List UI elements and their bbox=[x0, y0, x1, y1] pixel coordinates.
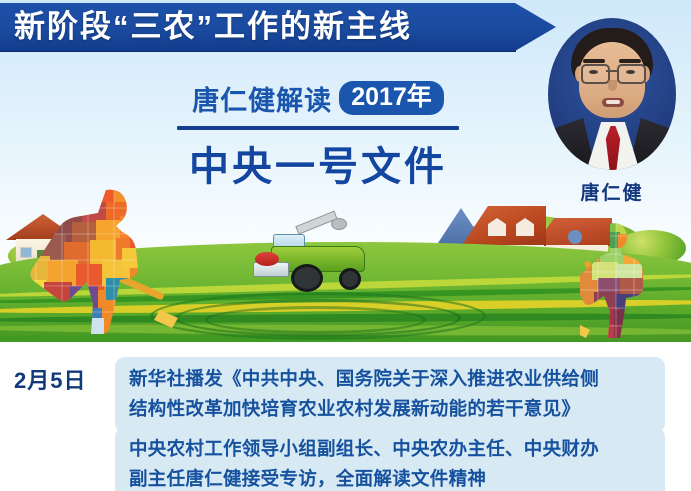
portrait-photo bbox=[548, 18, 676, 170]
headline-block: 唐仁健解读 2017年 中央一号文件 bbox=[168, 78, 468, 192]
combine-harvester-icon bbox=[253, 228, 379, 286]
auger-spout bbox=[331, 218, 347, 230]
eyebrow-shape bbox=[583, 59, 605, 63]
infographic-poster: 新阶段“三农”工作的新主线 唐仁健解读 2017年 中央一号文件 bbox=[0, 0, 691, 491]
date-label: 2月5日 bbox=[14, 363, 86, 395]
info-box-announcement: 新华社播发《中共中央、国务院关于深入推进农业供给侧 结构性改革加快培育农业农村发… bbox=[115, 357, 665, 433]
info-line: 中央农村工作领导小组副组长、中央农办主任、中央财办 bbox=[129, 434, 651, 464]
info-line: 副主任唐仁健接受专访，全面解读文件精神 bbox=[129, 464, 651, 491]
headline-divider bbox=[177, 126, 459, 130]
glasses-lens-shape bbox=[617, 64, 646, 84]
info-line: 新华社播发《中共中央、国务院关于深入推进农业供给侧 bbox=[129, 364, 651, 394]
headline-row-top: 唐仁健解读 2017年 bbox=[168, 78, 468, 118]
field-contour bbox=[205, 306, 426, 334]
mosaic-tiles bbox=[580, 218, 672, 340]
year-badge: 2017年 bbox=[339, 81, 444, 115]
farmer-with-hoe-icon bbox=[580, 218, 672, 340]
harvester-front-wheel bbox=[291, 264, 323, 292]
glasses-lens-shape bbox=[581, 64, 610, 84]
mosaic-tiles bbox=[10, 182, 190, 334]
interpreter-label: 唐仁健解读 bbox=[192, 79, 332, 118]
glasses-bridge-shape bbox=[606, 70, 617, 72]
document-title: 中央一号文件 bbox=[168, 134, 468, 192]
harvester-reel bbox=[255, 252, 279, 266]
banner-title: 新阶段“三农”工作的新主线 bbox=[14, 5, 514, 49]
nose-shape bbox=[608, 80, 617, 91]
farmer-with-hoe-icon bbox=[10, 182, 190, 334]
avatar bbox=[548, 18, 676, 170]
harvester-rear-wheel bbox=[339, 268, 361, 290]
portrait-caption: 唐仁健 bbox=[548, 178, 676, 205]
info-line: 结构性改革加快培育农业农村发展新动能的若干意见》 bbox=[129, 394, 651, 424]
teeth-shape bbox=[606, 100, 620, 104]
eyebrow-shape bbox=[619, 59, 641, 63]
info-box-interview: 中央农村工作领导小组副组长、中央农办主任、中央财办 副主任唐仁健接受专访，全面解… bbox=[115, 427, 665, 491]
